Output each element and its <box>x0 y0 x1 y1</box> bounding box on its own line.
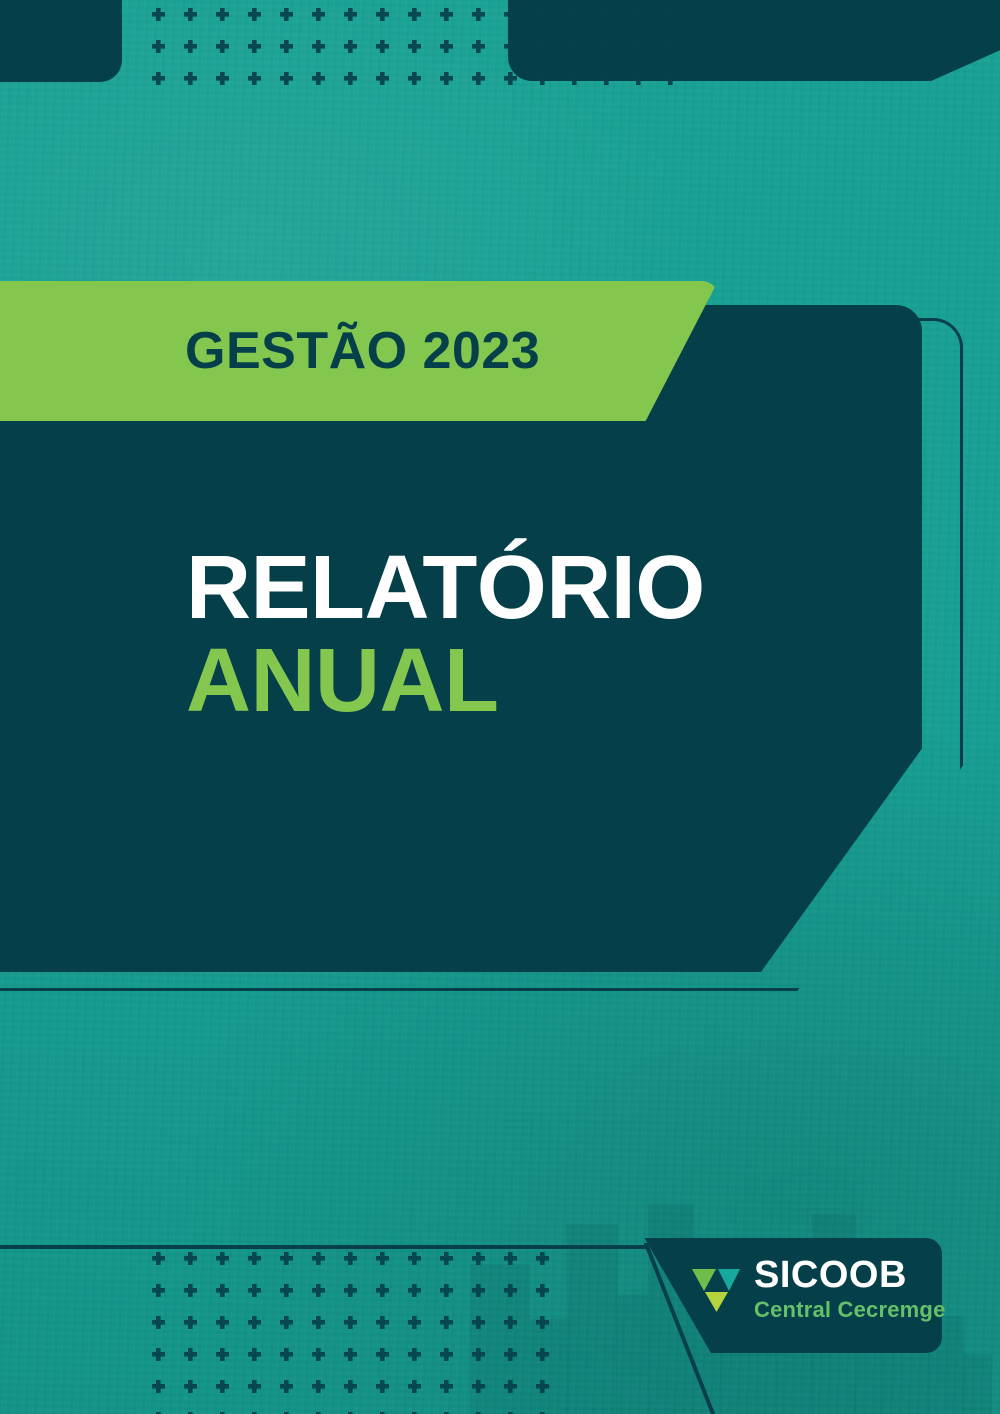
plus-glyph <box>440 1380 453 1393</box>
plus-glyph <box>248 8 261 21</box>
plus-glyph <box>472 1284 485 1297</box>
plus-glyph <box>440 1252 453 1265</box>
plus-glyph <box>440 1284 453 1297</box>
plus-glyph <box>536 1348 549 1361</box>
plus-glyph <box>216 1316 229 1329</box>
plus-glyph <box>440 1316 453 1329</box>
plus-glyph <box>312 40 325 53</box>
plus-glyph <box>184 8 197 21</box>
plus-glyph <box>344 1380 357 1393</box>
plus-glyph <box>536 1380 549 1393</box>
plus-glyph <box>408 1380 421 1393</box>
plus-glyph <box>248 1316 261 1329</box>
plus-glyph <box>568 8 581 21</box>
plus-glyph <box>632 72 645 85</box>
plus-glyph <box>472 72 485 85</box>
plus-glyph <box>312 1348 325 1361</box>
plus-glyph <box>536 40 549 53</box>
gestao-banner-label: GESTÃO 2023 <box>185 325 540 377</box>
skyline-building <box>530 1319 570 1414</box>
plus-glyph <box>248 1380 261 1393</box>
plus-glyph <box>536 72 549 85</box>
plus-glyph <box>216 40 229 53</box>
plus-glyph <box>440 1348 453 1361</box>
plus-glyph <box>568 40 581 53</box>
plus-glyph <box>504 8 517 21</box>
plus-glyph <box>280 1380 293 1393</box>
plus-glyph <box>344 1284 357 1297</box>
plus-glyph <box>408 72 421 85</box>
plus-glyph <box>248 40 261 53</box>
plus-glyph <box>312 1316 325 1329</box>
plus-glyph <box>536 1252 549 1265</box>
plus-glyph <box>248 1284 261 1297</box>
plus-glyph <box>344 8 357 21</box>
plus-glyph <box>216 8 229 21</box>
top-right-corner-block <box>508 0 1000 81</box>
plus-glyph <box>664 72 677 85</box>
plus-glyph <box>280 8 293 21</box>
plus-glyph <box>184 1348 197 1361</box>
plus-glyph <box>216 1348 229 1361</box>
plus-glyph <box>376 1316 389 1329</box>
page-title-primary: RELATÓRIO <box>186 545 705 632</box>
plus-glyph <box>408 1316 421 1329</box>
plus-glyph <box>376 1252 389 1265</box>
gestao-banner: GESTÃO 2023 <box>0 281 718 421</box>
plus-glyph <box>152 1284 165 1297</box>
plus-glyph <box>504 1252 517 1265</box>
report-cover-page: GESTÃO 2023 RELATÓRIO ANUAL SICOOB Centr… <box>0 0 1000 1414</box>
plus-glyph <box>472 40 485 53</box>
plus-glyph <box>248 72 261 85</box>
sicoob-wordmark: SICOOB <box>754 1256 946 1294</box>
plus-glyph <box>472 1348 485 1361</box>
plus-glyph <box>312 72 325 85</box>
plus-glyph <box>600 72 613 85</box>
plus-glyph <box>280 72 293 85</box>
plus-glyph <box>440 8 453 21</box>
plus-glyph <box>312 1380 325 1393</box>
plus-glyph <box>184 1380 197 1393</box>
plus-glyph <box>184 1252 197 1265</box>
plus-glyph <box>312 1284 325 1297</box>
plus-glyph <box>344 1252 357 1265</box>
plus-glyph <box>184 40 197 53</box>
sicoob-logo: SICOOB Central Cecremge <box>690 1256 946 1322</box>
plus-glyph <box>504 1284 517 1297</box>
cover-title-block: RELATÓRIO ANUAL <box>186 545 705 726</box>
plus-glyph <box>216 1252 229 1265</box>
top-left-corner-block <box>0 0 122 82</box>
plus-glyph <box>152 72 165 85</box>
plus-glyph <box>312 8 325 21</box>
skyline-building <box>962 1354 992 1414</box>
plus-glyph <box>440 40 453 53</box>
plus-glyph <box>408 1284 421 1297</box>
plus-glyph <box>376 72 389 85</box>
plus-glyph <box>536 8 549 21</box>
plus-glyph <box>472 1380 485 1393</box>
plus-glyph <box>248 1252 261 1265</box>
plus-glyph <box>344 1348 357 1361</box>
plus-glyph <box>152 8 165 21</box>
footer-rule <box>0 1245 648 1249</box>
plus-glyph <box>344 1316 357 1329</box>
plus-glyph <box>248 1348 261 1361</box>
plus-glyph <box>184 72 197 85</box>
plus-glyph <box>376 40 389 53</box>
plus-glyph <box>504 1380 517 1393</box>
plus-glyph <box>568 72 581 85</box>
plus-glyph <box>408 40 421 53</box>
plus-glyph <box>440 72 453 85</box>
plus-glyph <box>376 1380 389 1393</box>
plus-glyph <box>504 1348 517 1361</box>
plus-glyph <box>408 1252 421 1265</box>
plus-glyph <box>184 1316 197 1329</box>
plus-glyph <box>408 8 421 21</box>
plus-glyph <box>216 1284 229 1297</box>
plus-glyph <box>152 1316 165 1329</box>
sicoob-triangle-icon <box>690 1265 742 1313</box>
plus-glyph <box>504 1316 517 1329</box>
plus-glyph <box>344 72 357 85</box>
plus-glyph <box>376 1284 389 1297</box>
plus-glyph <box>536 1284 549 1297</box>
page-title-secondary: ANUAL <box>186 638 705 725</box>
skyline-building <box>566 1224 618 1414</box>
plus-glyph <box>504 40 517 53</box>
plus-glyph <box>600 40 613 53</box>
plus-glyph <box>312 1252 325 1265</box>
plus-glyph <box>344 40 357 53</box>
plus-glyph <box>472 1316 485 1329</box>
sicoob-wordmark-group: SICOOB Central Cecremge <box>754 1256 946 1322</box>
plus-glyph <box>280 1284 293 1297</box>
plus-glyph <box>664 40 677 53</box>
plus-glyph <box>472 8 485 21</box>
plus-glyph <box>184 1284 197 1297</box>
plus-glyph <box>152 40 165 53</box>
plus-glyph <box>216 72 229 85</box>
plus-glyph <box>152 1252 165 1265</box>
plus-glyph <box>216 1380 229 1393</box>
sicoob-subtitle: Central Cecremge <box>754 1297 946 1322</box>
plus-glyph <box>600 8 613 21</box>
plus-glyph <box>280 1348 293 1361</box>
plus-glyph <box>152 1348 165 1361</box>
plus-glyph <box>536 1316 549 1329</box>
plus-glyph <box>280 1252 293 1265</box>
plus-glyph <box>472 1252 485 1265</box>
plus-glyph <box>280 40 293 53</box>
plus-glyph <box>408 1348 421 1361</box>
plus-glyph <box>664 8 677 21</box>
plus-glyph <box>376 1348 389 1361</box>
plus-glyph <box>632 40 645 53</box>
plus-glyph <box>632 8 645 21</box>
plus-glyph <box>504 72 517 85</box>
plus-glyph <box>376 8 389 21</box>
plus-glyph <box>280 1316 293 1329</box>
plus-glyph <box>152 1380 165 1393</box>
